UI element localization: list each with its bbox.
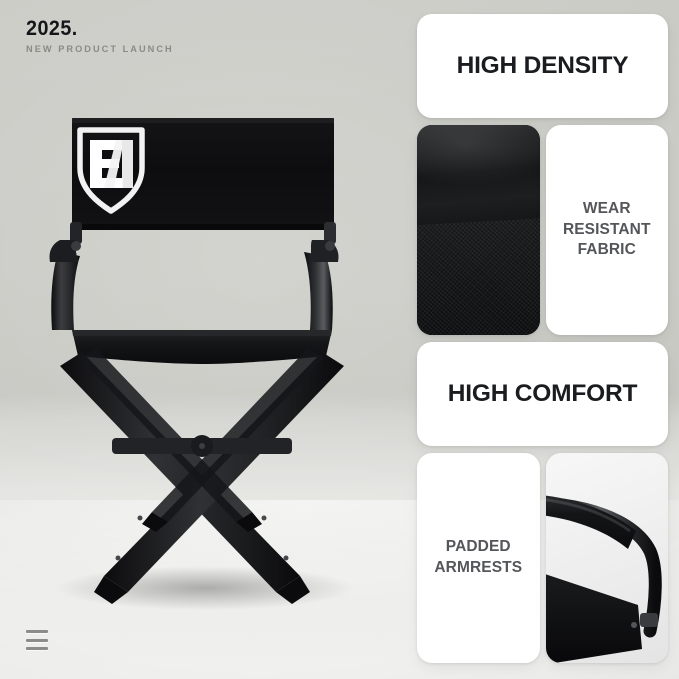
label-line-3: FABRIC [563,240,651,261]
launch-year: 2025. [26,18,169,39]
feature-card-padded-armrests[interactable]: PADDED ARMRESTS [417,453,540,663]
feature-card-high-comfort-label: HIGH COMFORT [448,380,638,408]
feature-row-padded-armrests: PADDED ARMRESTS [417,453,668,663]
fabric-smooth-panel [417,125,540,230]
feature-card-wear-resistant-fabric-label: WEAR RESISTANT FABRIC [563,199,651,261]
feature-card-high-density-label: HIGH DENSITY [457,52,629,80]
armrest-rivet [631,622,637,628]
label-line-1: WEAR [563,199,651,220]
feature-card-wear-resistant-fabric[interactable]: WEAR RESISTANT FABRIC [546,125,669,335]
hamburger-bar-1 [26,630,48,633]
armrest-post-right [304,252,333,330]
armrest-seat-canvas [546,573,642,663]
armrest-closeup-photo[interactable] [546,453,669,663]
label-line-1: PADDED [434,537,522,558]
product-image-director-chair [0,0,400,679]
armrest-post-left [51,252,80,330]
label-line-2: ARMRESTS [434,558,522,579]
header: 2025. NEW PRODUCT LAUNCH [26,18,178,55]
feature-card-padded-armrests-label: PADDED ARMRESTS [434,537,522,579]
product-launch-poster: 2025. NEW PRODUCT LAUNCH [0,0,679,679]
chair-seat [72,330,332,364]
launch-subtitle: NEW PRODUCT LAUNCH [26,45,174,55]
armrest-bracket [640,613,658,627]
fabric-texture-photo[interactable] [417,125,540,335]
feature-card-high-comfort[interactable]: HIGH COMFORT [417,342,668,446]
feature-card-high-density[interactable]: HIGH DENSITY [417,14,668,118]
fabric-woven-panel [417,218,540,335]
arm-joint-right [325,241,335,251]
label-line-2: RESISTANT [563,220,651,241]
feature-row-wear-resistant-fabric: WEAR RESISTANT FABRIC [417,125,668,335]
hamburger-bar-2 [26,639,48,642]
feature-card-column: HIGH DENSITY WEAR RESISTANT FABRIC HIGH … [417,14,668,663]
chair-x-frame [60,348,344,604]
hamburger-menu-icon[interactable] [26,630,48,650]
chair-backrest [72,118,334,230]
arm-joint-left [71,241,81,251]
hamburger-bar-3 [26,647,48,650]
